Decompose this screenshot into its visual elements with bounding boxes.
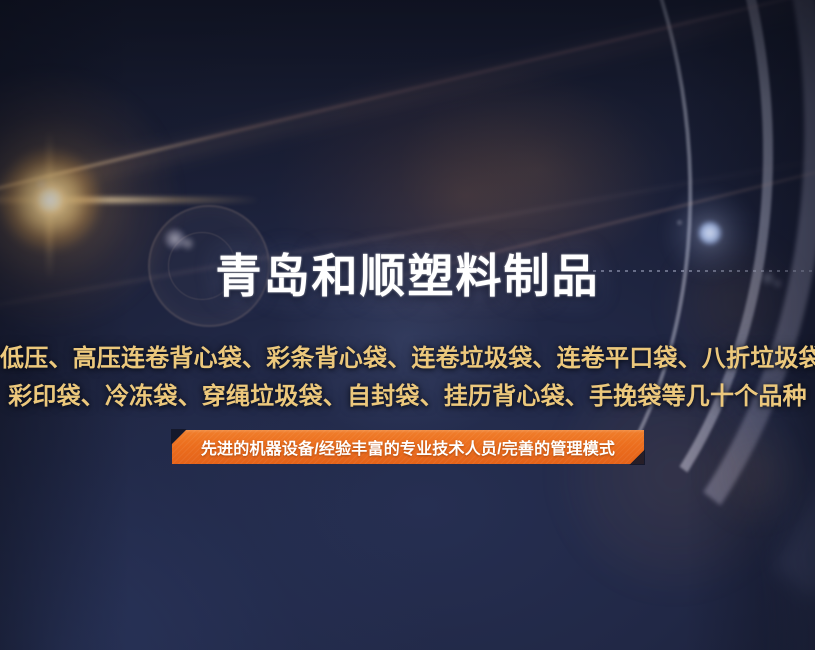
ribbon-label: 先进的机器设备/经验丰富的专业技术人员/完善的管理模式	[172, 430, 644, 464]
product-list-line-1: 低压、高压连卷背心袋、彩条背心袋、连卷垃圾袋、连卷平口袋、八折垃圾袋、	[0, 340, 815, 378]
banner-content: 青岛和顺塑料制品 低压、高压连卷背心袋、彩条背心袋、连卷垃圾袋、连卷平口袋、八折…	[0, 0, 815, 650]
page-title: 青岛和顺塑料制品	[0, 248, 815, 304]
promotional-banner: 青岛和顺塑料制品 低压、高压连卷背心袋、彩条背心袋、连卷垃圾袋、连卷平口袋、八折…	[0, 0, 815, 650]
tagline-ribbon: 先进的机器设备/经验丰富的专业技术人员/完善的管理模式	[172, 430, 644, 464]
product-list-line-2: 彩印袋、冷冻袋、穿绳垃圾袋、自封袋、挂历背心袋、手挽袋等几十个品种	[0, 378, 815, 416]
